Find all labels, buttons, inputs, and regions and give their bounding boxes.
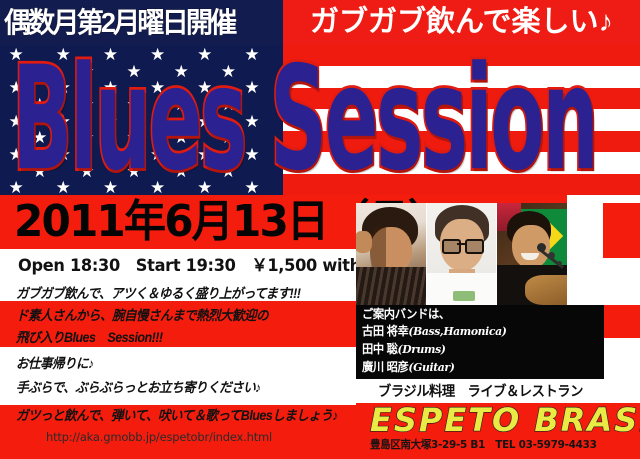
band-member-name: 古田 将幸 [362, 324, 408, 338]
photo-detail [525, 275, 567, 305]
photo-detail [356, 267, 426, 305]
band-member-bass: 古田 将幸(Bass,Hamonica) [362, 324, 506, 339]
flag-star-icon: ★ [32, 129, 47, 146]
flag-star-icon: ★ [174, 163, 189, 180]
band-member-name: 田中 聡 [362, 342, 397, 356]
flag-star-icon: ★ [103, 113, 118, 130]
flag-star-icon: ★ [221, 129, 236, 146]
band-member-name: 廣川 昭彦 [362, 360, 408, 374]
flyer-poster: 偶数月第2月曜日開催 ガブガブ飲んで楽しい♪ ★★★★★★★★★★★★★★★★★… [0, 0, 640, 459]
promo-line-5: 手ぶらで、ぶらぶらっとお立ち寄りください♪ [16, 379, 261, 396]
flag-star-icon: ★ [244, 146, 259, 163]
flag-star-icon: ★ [79, 96, 94, 113]
flag-star-icon: ★ [8, 113, 23, 130]
flag-star-icon: ★ [244, 113, 259, 130]
flag-star-icon: ★ [244, 179, 259, 195]
photo-detail [465, 239, 484, 254]
promo-copy-block: ガブガブ飲んで、アツく＆ゆるく盛り上がってます!!! ド素人さんから、腕自慢さん… [0, 283, 356, 459]
band-member-guitar: 廣川 昭彦(Guitar) [362, 360, 455, 375]
tagline-text: ガブガブ飲んで楽しい♪ [310, 8, 613, 37]
flag-star-icon: ★ [174, 96, 189, 113]
band-photos [356, 203, 567, 305]
flag-star-icon: ★ [8, 179, 23, 195]
flag-star-icon: ★ [150, 146, 165, 163]
flag-star-icon: ★ [103, 79, 118, 96]
flag-star-icon: ★ [197, 179, 212, 195]
schedule-text: 偶数月第2月曜日開催 [0, 9, 234, 37]
promo-line-6: ガツっと飲んで、弾いて、吠いて＆歌ってBluesしましょう♪ [16, 407, 338, 424]
photo-drums-player [427, 203, 498, 305]
photo-detail [453, 291, 475, 301]
flag-star-icon: ★ [150, 113, 165, 130]
photo-detail [457, 243, 465, 245]
flag-star-icon: ★ [103, 179, 118, 195]
promo-line-2: ド素人さんから、腕自慢さんまで熱烈大歓迎の [16, 307, 268, 324]
flag-star-icon: ★ [197, 113, 212, 130]
flag-star-icon: ★ [150, 46, 165, 63]
flag-star-icon: ★ [126, 63, 141, 80]
flag-star-icon: ★ [79, 63, 94, 80]
band-member-role: (Bass,Hamonica) [408, 324, 506, 338]
flag-star-icon: ★ [244, 46, 259, 63]
band-heading: ご案内バンドは、 [362, 307, 450, 322]
flag-star-icon: ★ [56, 179, 71, 195]
flag-star-icon: ★ [56, 79, 71, 96]
flag-star-icon: ★ [244, 79, 259, 96]
flag-star-icon: ★ [150, 179, 165, 195]
flag-star-icon: ★ [56, 46, 71, 63]
promo-line-4: お仕事帰りに♪ [16, 355, 94, 372]
flag-star-icon: ★ [56, 146, 71, 163]
band-member-list: ご案内バンドは、 古田 将幸(Bass,Hamonica) 田中 聡(Drums… [356, 305, 640, 379]
flag-star-icon: ★ [221, 96, 236, 113]
flag-star-icon: ★ [8, 79, 23, 96]
photo-bass-player [356, 203, 427, 305]
flag-star-icon: ★ [126, 163, 141, 180]
flag-star-icon: ★ [197, 46, 212, 63]
website-url-link[interactable]: http://aka.gmobb.jp/espetobr/index.html [46, 429, 272, 445]
flag-star-icon: ★ [32, 63, 47, 80]
flag-star-icon: ★ [197, 79, 212, 96]
flag-star-icon: ★ [103, 146, 118, 163]
flag-star-icon: ★ [8, 146, 23, 163]
promo-line-3: 飛び入りBlues Session!!! [16, 329, 163, 346]
flag-star-icon: ★ [126, 96, 141, 113]
flag-star-icon: ★ [174, 63, 189, 80]
event-info-bar: Open 18:30 Start 19:30 ￥1,500 with/1drin… [0, 249, 356, 283]
venue-name: ESPETO BRASIL [370, 403, 640, 437]
promo-line-1: ガブガブ飲んで、アツく＆ゆるく盛り上がってます!!! [16, 285, 300, 302]
flag-star-icon: ★ [79, 129, 94, 146]
band-white-accent [604, 338, 640, 379]
top-banner-right: ガブガブ飲んで楽しい♪ [283, 0, 640, 45]
flag-star-icon: ★ [126, 129, 141, 146]
flag-star-icon: ★ [221, 63, 236, 80]
flag-star-icon: ★ [79, 163, 94, 180]
flag-star-icon: ★ [8, 46, 23, 63]
flag-star-icon: ★ [197, 146, 212, 163]
band-red-accent [604, 305, 640, 338]
venue-address: 豊島区南大塚3-29-5 B1 TEL 03-5979-4433 [370, 437, 597, 452]
flag-star-icon: ★ [32, 163, 47, 180]
flag-star-icon: ★ [32, 96, 47, 113]
venue-cuisine: ブラジル料理 ライブ＆レストラン [378, 381, 583, 402]
venue-footer: ブラジル料理 ライブ＆レストラン ESPETO BRASIL 豊島区南大塚3-2… [356, 379, 640, 459]
flag-star-icon: ★ [174, 129, 189, 146]
photo-detail [356, 231, 372, 253]
flag-star-icon: ★ [221, 163, 236, 180]
top-banner-left: 偶数月第2月曜日開催 [0, 0, 283, 45]
us-flag-background: ★★★★★★★★★★★★★★★★★★★★★★★★★★★★★★★★★★★★★★★★… [0, 45, 640, 195]
flag-star-icon: ★ [56, 113, 71, 130]
band-member-role: (Drums) [397, 342, 445, 356]
right-red-accent [603, 203, 640, 258]
flag-star-icon: ★ [150, 79, 165, 96]
flag-star-icon: ★ [103, 46, 118, 63]
band-member-drums: 田中 聡(Drums) [362, 342, 446, 357]
top-banner: 偶数月第2月曜日開催 ガブガブ飲んで楽しい♪ [0, 0, 640, 45]
band-member-role: (Guitar) [408, 360, 454, 374]
photo-detail [442, 239, 461, 254]
flag-canton: ★★★★★★★★★★★★★★★★★★★★★★★★★★★★★★★★★★★★★★★★… [0, 45, 283, 195]
photo-guitar-player [497, 203, 567, 305]
